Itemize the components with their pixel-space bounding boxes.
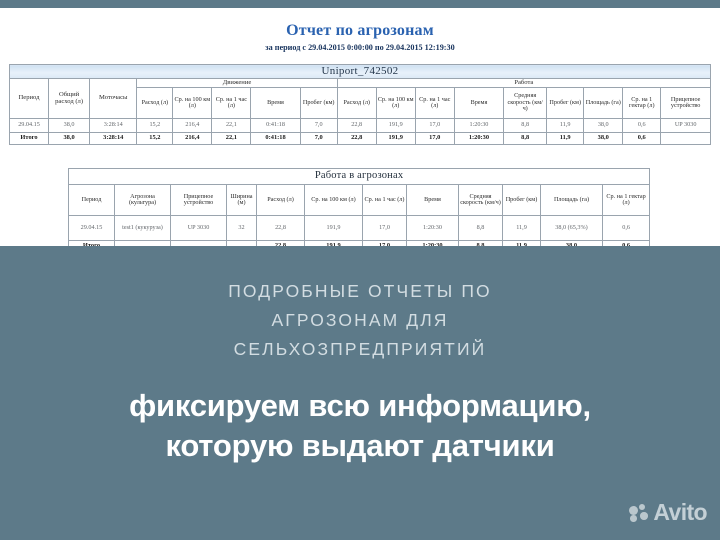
cell-work-distance: 11,9 (547, 119, 584, 133)
cell-work-perhectare: 0,6 (623, 119, 661, 133)
cell-period: 29.04.15 (10, 119, 49, 133)
total-implement (661, 133, 711, 145)
avito-wordmark: Avito (653, 499, 707, 526)
header-work-per100: Ср. на 100 км (л) (376, 88, 415, 119)
agrozone-work-table: Работа в агрозонах Период Агрозона (куль… (68, 168, 650, 246)
cell-work-area: 38,0 (584, 119, 623, 133)
total-work-fuel: 22,8 (337, 133, 376, 145)
header-implement: Прицепное устройство (661, 88, 711, 119)
header-work-distance: Пробег (км) (547, 88, 584, 119)
cell-move-distance: 7,0 (300, 119, 337, 133)
cell2-avgspeed: 8,8 (459, 216, 503, 241)
kicker-line-2: АГРОЗОНАМ ДЛЯ (0, 306, 720, 335)
cell-move-time: 0:41:18 (251, 119, 300, 133)
cell2-period: 29.04.15 (69, 216, 115, 241)
header-work-area: Площадь (га) (584, 88, 623, 119)
cell-move-fuel: 15,2 (137, 119, 173, 133)
cell-move-per100: 216,4 (173, 119, 212, 133)
total-total-fuel: 38,0 (49, 133, 90, 145)
total-move-distance: 7,0 (300, 133, 337, 145)
group-work: Работа (337, 79, 710, 88)
cell2-area: 38,0 (65,3%) (541, 216, 603, 241)
cell-work-avgspeed: 8,8 (504, 119, 547, 133)
header-work-perhour: Ср. на 1 час (л) (415, 88, 454, 119)
header2-perhour: Ср. на 1 час (л) (363, 185, 407, 216)
cell-move-perhour: 22,1 (212, 119, 251, 133)
cell2-fuel: 22,8 (257, 216, 305, 241)
total-move-time: 0:41:18 (251, 133, 300, 145)
table-row: 29.04.15 test1 (кукуруза) UP 3030 32 22,… (69, 216, 650, 241)
cell2-width: 32 (227, 216, 257, 241)
header2-period: Период (69, 185, 115, 216)
header-engine-hours: Моточасы (90, 79, 137, 119)
header-move-per100: Ср. на 100 км (л) (173, 88, 212, 119)
cell2-implement: UP 3030 (171, 216, 227, 241)
table-group-row: Период Общий расход (л) Моточасы Движени… (10, 79, 711, 88)
table2-banner-row: Работа в агрозонах (69, 169, 650, 185)
total-work-time: 1:20:30 (454, 133, 503, 145)
promo-kicker: ПОДРОБНЫЕ ОТЧЕТЫ ПО АГРОЗОНАМ ДЛЯ СЕЛЬХО… (0, 277, 720, 364)
avito-dots-icon (629, 504, 649, 521)
total-move-perhour: 22,1 (212, 133, 251, 145)
table-row: 29.04.15 38,0 3:28:14 15,2 216,4 22,1 0:… (10, 119, 711, 133)
group-movement: Движение (137, 79, 337, 88)
table2-banner: Работа в агрозонах (69, 169, 650, 185)
total-engine-hours: 3:28:14 (90, 133, 137, 145)
cell-work-perhour: 17,0 (415, 119, 454, 133)
header-total-fuel: Общий расход (л) (49, 79, 90, 119)
cell-work-per100: 191,9 (376, 119, 415, 133)
slide-root: Отчет по агрозонам за период с 29.04.201… (0, 0, 720, 540)
header2-area: Площадь (га) (541, 185, 603, 216)
cell2-agrozone: test1 (кукуруза) (115, 216, 171, 241)
header2-time: Время (407, 185, 459, 216)
table1-banner: Uniport_742502 (10, 65, 711, 79)
header-move-distance: Пробег (км) (300, 88, 337, 119)
header-move-perhour: Ср. на 1 час (л) (212, 88, 251, 119)
total-work-perhectare: 0,6 (623, 133, 661, 145)
report-image-area: Отчет по агрозонам за период с 29.04.201… (0, 8, 720, 246)
cell-work-fuel: 22,8 (337, 119, 376, 133)
avito-watermark: Avito (629, 499, 707, 526)
report-title: Отчет по агрозонам (0, 22, 720, 40)
header-period: Период (10, 79, 49, 119)
table2-header-row: Период Агрозона (культура) Прицепное уст… (69, 185, 650, 216)
total-work-distance: 11,9 (547, 133, 584, 145)
total-work-per100: 191,9 (376, 133, 415, 145)
header2-per100: Ср. на 100 км (л) (305, 185, 363, 216)
total-move-fuel: 15,2 (137, 133, 173, 145)
vehicle-summary-table: Uniport_742502 Период Общий расход (л) М… (9, 64, 711, 145)
cell-engine-hours: 3:28:14 (90, 119, 137, 133)
cell-total-fuel: 38,0 (49, 119, 90, 133)
header-work-fuel: Расход (л) (337, 88, 376, 119)
cell2-distance: 11,9 (503, 216, 541, 241)
report-subtitle: за период с 29.04.2015 0:00:00 по 29.04.… (0, 43, 720, 52)
total-label: Итого (10, 133, 49, 145)
total-work-avgspeed: 8,8 (504, 133, 547, 145)
cell2-perhectare: 0,6 (603, 216, 650, 241)
header2-perhectare: Ср. на 1 гектар (л) (603, 185, 650, 216)
cell2-time: 1:20:30 (407, 216, 459, 241)
table-banner-row: Uniport_742502 (10, 65, 711, 79)
header-work-perhectare: Ср. на 1 гектар (л) (623, 88, 661, 119)
total-move-per100: 216,4 (173, 133, 212, 145)
top-accent-band (0, 0, 720, 8)
cell2-per100: 191,9 (305, 216, 363, 241)
total-work-area: 38,0 (584, 133, 623, 145)
header2-fuel: Расход (л) (257, 185, 305, 216)
header2-avgspeed: Средняя скорость (км/ч) (459, 185, 503, 216)
header2-agrozone: Агрозона (культура) (115, 185, 171, 216)
total-work-perhour: 17,0 (415, 133, 454, 145)
headline-line-2: которую выдают датчики (0, 426, 720, 466)
kicker-line-1: ПОДРОБНЫЕ ОТЧЕТЫ ПО (0, 277, 720, 306)
kicker-line-3: СЕЛЬХОЗПРЕДПРИЯТИЙ (0, 335, 720, 364)
header2-distance: Пробег (км) (503, 185, 541, 216)
headline-line-1: фиксируем всю информацию, (0, 386, 720, 426)
promo-panel: ПОДРОБНЫЕ ОТЧЕТЫ ПО АГРОЗОНАМ ДЛЯ СЕЛЬХО… (0, 246, 720, 540)
cell-implement: UP 3030 (661, 119, 711, 133)
header2-implement: Прицепное устройство (171, 185, 227, 216)
cell-work-time: 1:20:30 (454, 119, 503, 133)
header-work-time: Время (454, 88, 503, 119)
header-move-time: Время (251, 88, 300, 119)
cell2-perhour: 17,0 (363, 216, 407, 241)
header-work-avgspeed: Средняя скорость (км/ч) (504, 88, 547, 119)
header-move-fuel: Расход (л) (137, 88, 173, 119)
header2-width: Ширина (м) (227, 185, 257, 216)
promo-headline: фиксируем всю информацию, которую выдают… (0, 386, 720, 466)
table-total-row: Итого 38,0 3:28:14 15,2 216,4 22,1 0:41:… (10, 133, 711, 145)
